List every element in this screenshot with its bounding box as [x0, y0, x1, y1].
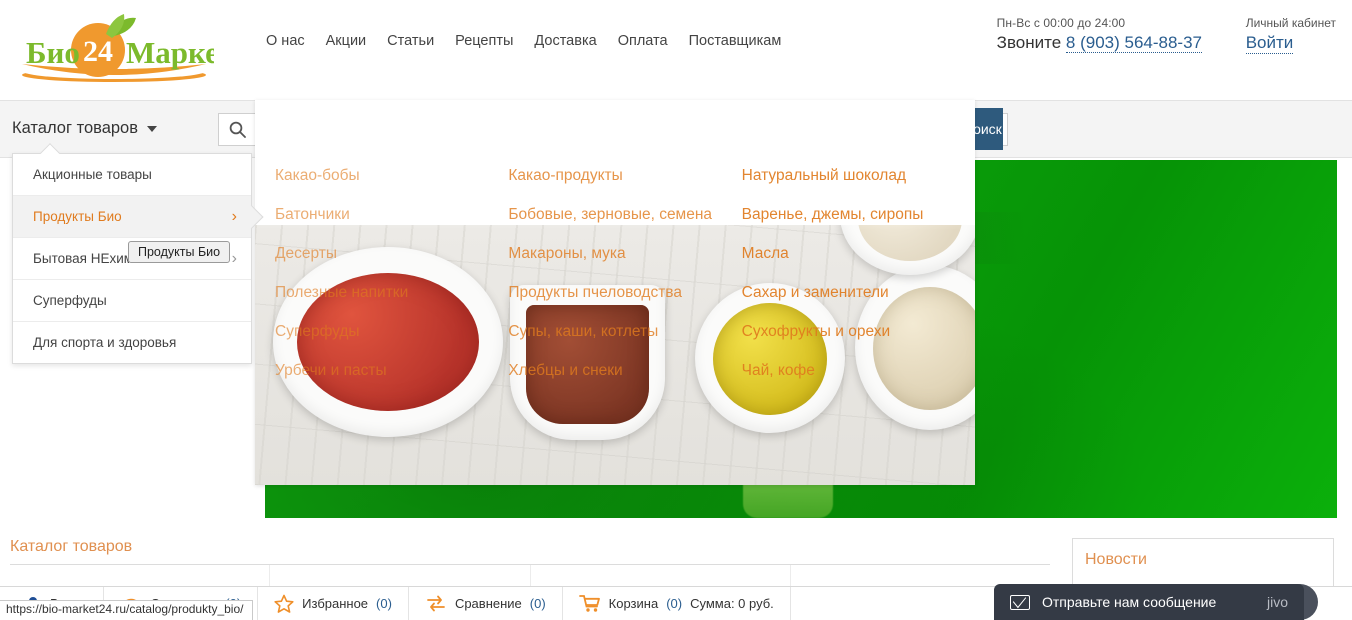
megamenu-link-varene-dzhemy[interactable]: Варенье, джемы, сиропы	[742, 205, 975, 225]
jivo-message-label: Отправьте нам сообщение	[1042, 594, 1255, 610]
megamenu-panel: Какао-бобы Батончики Десерты Полезные на…	[255, 100, 975, 485]
bottombar-count: (0)	[376, 596, 392, 611]
catalog-item-label: Для спорта и здоровья	[33, 335, 176, 350]
megamenu-link-kakao-produkty[interactable]: Какао-продукты	[508, 166, 741, 186]
megamenu-link-makarony-muka[interactable]: Макароны, мука	[508, 244, 741, 264]
search-icon	[229, 121, 246, 138]
bottombar-count: (0)	[530, 596, 546, 611]
jivo-brand-label: jivo	[1267, 594, 1288, 610]
bottombar-label: Избранное	[302, 596, 368, 611]
megamenu-columns: Какао-бобы Батончики Десерты Полезные на…	[255, 100, 975, 485]
megamenu-link-poleznye-napitki[interactable]: Полезные напитки	[275, 283, 508, 303]
logo-icon: 24 Био Маркет	[14, 14, 214, 84]
nav-item-about[interactable]: О нас	[266, 33, 305, 49]
megamenu-link-urbechi-i-pasty[interactable]: Урбечи и пасты	[275, 361, 508, 381]
megamenu-link-kakao-boby[interactable]: Какао-бобы	[275, 166, 508, 186]
nav-item-promos[interactable]: Акции	[326, 33, 367, 49]
nav-item-recipes[interactable]: Рецепты	[455, 33, 513, 49]
phone-link[interactable]: 8 (903) 564-88-37	[1066, 33, 1202, 53]
envelope-icon	[1010, 595, 1030, 610]
megamenu-link-naturalnyj-shokolad[interactable]: Натуральный шоколад	[742, 166, 975, 186]
svg-text:Био: Био	[26, 35, 80, 70]
bottombar-cart-sum: Сумма: 0 руб.	[690, 596, 774, 611]
catalog-item-superfudy[interactable]: Суперфуды	[13, 280, 251, 322]
top-navigation[interactable]: О нас Акции Статьи Рецепты Доставка Опла…	[266, 33, 781, 49]
site-logo[interactable]: 24 Био Маркет	[14, 14, 214, 84]
svg-text:Маркет: Маркет	[126, 35, 214, 70]
megamenu-link-hlebcy-i-sneki[interactable]: Хлебцы и снеки	[508, 361, 741, 381]
megamenu-link-batonchiki[interactable]: Батончики	[275, 205, 508, 225]
megamenu-link-deserty[interactable]: Десерты	[275, 244, 508, 264]
megamenu-column-3: Натуральный шоколад Варенье, джемы, сиро…	[742, 166, 975, 485]
account-block: Личный кабинет Войти	[1246, 16, 1336, 54]
nav-item-suppliers[interactable]: Поставщикам	[689, 33, 782, 49]
nav-item-delivery[interactable]: Доставка	[534, 33, 596, 49]
catalog-item-label: Продукты Био	[33, 209, 122, 224]
megamenu-column-2: Какао-продукты Бобовые, зерновые, семена…	[508, 166, 741, 485]
nav-item-payment[interactable]: Оплата	[618, 33, 668, 49]
megamenu-link-suhofrukty-orehi[interactable]: Сухофрукты и орехи	[742, 322, 975, 342]
megamenu-link-supy-kashi[interactable]: Супы, каши, котлеты	[508, 322, 741, 342]
catalog-item-akcionnye-tovary[interactable]: Акционные товары	[13, 154, 251, 196]
megamenu-link-chaj-kofe[interactable]: Чай, кофе	[742, 361, 975, 381]
megamenu-link-bobovye-zernovye[interactable]: Бобовые, зерновые, семена	[508, 205, 741, 225]
header-top: 24 Био Маркет О нас Акции Статьи Рецепты…	[0, 0, 1352, 100]
star-icon	[274, 594, 294, 613]
chevron-right-icon: ›	[232, 209, 237, 225]
megamenu-link-sahar-zameniteli[interactable]: Сахар и заменители	[742, 283, 975, 303]
login-link[interactable]: Войти	[1246, 33, 1294, 54]
bottombar-label: Сравнение	[455, 596, 522, 611]
catalog-item-label: Суперфуды	[33, 293, 107, 308]
catalog-button-label: Каталог товаров	[12, 119, 138, 138]
svg-text:24: 24	[83, 35, 113, 68]
megamenu-column-1: Какао-бобы Батончики Десерты Полезные на…	[275, 166, 508, 485]
megamenu-link-superfudy[interactable]: Суперфуды	[275, 322, 508, 342]
catalog-section-title: Каталог товаров	[10, 538, 1050, 564]
call-row: Звоните 8 (903) 564-88-37	[997, 33, 1202, 53]
page-root: 24 Био Маркет О нас Акции Статьи Рецепты…	[0, 0, 1352, 620]
megamenu-link-pchelovodstva[interactable]: Продукты пчеловодства	[508, 283, 741, 303]
jivo-chat-widget[interactable]: Отправьте нам сообщение jivo	[994, 584, 1304, 620]
megamenu-link-masla[interactable]: Масла	[742, 244, 975, 264]
contact-block: Пн-Вс с 00:00 до 24:00 Звоните 8 (903) 5…	[997, 16, 1202, 53]
bottombar-item-favorites[interactable]: Избранное (0)	[258, 587, 409, 620]
catalog-item-sport-zdorovie[interactable]: Для спорта и здоровья	[13, 322, 251, 363]
news-panel: Новости	[1072, 538, 1334, 590]
catalog-button[interactable]: Каталог товаров	[12, 119, 157, 138]
bottombar-item-compare[interactable]: Сравнение (0)	[409, 587, 563, 620]
bottombar-label: Корзина	[609, 596, 659, 611]
working-hours: Пн-Вс с 00:00 до 24:00	[997, 16, 1202, 30]
bottombar-item-cart[interactable]: Корзина (0) Сумма: 0 руб.	[563, 587, 791, 620]
catalog-item-produkty-bio[interactable]: Продукты Био ›	[13, 196, 251, 238]
hover-tooltip: Продукты Био	[128, 241, 230, 263]
account-label: Личный кабинет	[1246, 16, 1336, 30]
chevron-down-icon	[147, 126, 157, 132]
news-title: Новости	[1073, 539, 1333, 569]
catalog-item-label: Акционные товары	[33, 167, 152, 182]
compare-icon	[425, 594, 447, 613]
cart-icon	[579, 594, 601, 613]
status-url-tooltip: https://bio-market24.ru/catalog/produkty…	[0, 600, 253, 620]
bottombar-count: (0)	[666, 596, 682, 611]
call-prefix: Звоните	[997, 33, 1062, 52]
nav-item-articles[interactable]: Статьи	[387, 33, 434, 49]
chevron-right-icon: ›	[232, 251, 237, 267]
